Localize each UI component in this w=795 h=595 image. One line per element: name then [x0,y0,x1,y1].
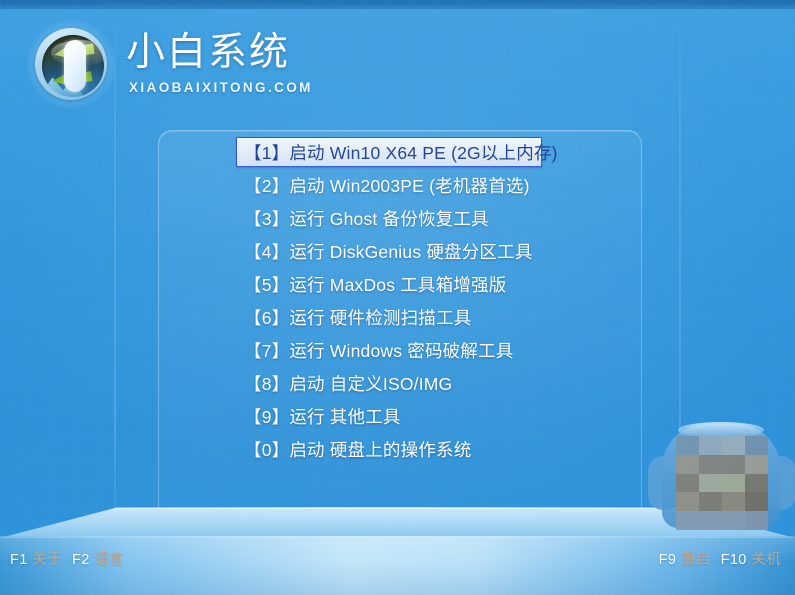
mosaic-tile-9 [699,474,722,493]
menu-item-1[interactable]: 【1】启动 Win10 X64 PE (2G以上内存) [158,136,640,169]
logo-inner-disc [42,35,104,97]
menu-item-5[interactable]: 【5】运行 MaxDos 工具箱增强版 [158,268,640,301]
menu-item-label: 【4】运行 DiskGenius 硬盘分区工具 [244,239,533,264]
mosaic-tile-3 [745,436,768,455]
mosaic-tile-1 [699,436,722,455]
hint-key-f2[interactable]: F2 [72,552,90,568]
boot-menu-list: 【1】启动 Win10 X64 PE (2G以上内存)【2】启动 Win2003… [158,136,640,466]
boot-menu-screen: 小白系统 XIAOBAIXITONG.COM 【1】启动 Win10 X64 P… [0,0,795,595]
menu-item-label: 【7】运行 Windows 密码破解工具 [244,338,513,363]
brand-logo: 小白系统 XIAOBAIXITONG.COM [33,26,283,106]
menu-item-label: 【9】运行 其他工具 [244,404,401,429]
mosaic-tile-17 [699,511,722,530]
footer-hints-right: F9 重启F10 关机 [659,548,781,569]
top-strip [0,0,795,9]
recycle-circle-logo-icon [33,26,109,102]
logo-s-stripe [64,40,86,92]
mosaic-censored-mascot [648,418,795,530]
mosaic-tile-14 [722,492,745,511]
hint-label-f2: 语言 [94,552,124,568]
menu-item-label: 【8】启动 自定义ISO/IMG [244,371,452,396]
mosaic-tile-0 [676,436,699,455]
menu-item-4[interactable]: 【4】运行 DiskGenius 硬盘分区工具 [158,235,640,268]
menu-item-label: 【2】启动 Win2003PE (老机器首选) [244,173,530,198]
menu-item-label: 【1】启动 Win10 X64 PE (2G以上内存) [244,140,558,165]
menu-item-8[interactable]: 【8】启动 自定义ISO/IMG [158,367,640,400]
mosaic-tile-13 [699,492,722,511]
hint-label-f9: 重启 [681,552,711,568]
mosaic-tile-15 [745,492,768,511]
mosaic-tile-18 [722,511,745,530]
mosaic-tile-19 [745,511,768,530]
mosaic-tile-10 [722,474,745,493]
mosaic-blur-overlay [676,436,768,530]
menu-item-label: 【6】运行 硬件检测扫描工具 [244,305,471,330]
menu-item-6[interactable]: 【6】运行 硬件检测扫描工具 [158,301,640,334]
hint-key-f9[interactable]: F9 [659,552,677,568]
mosaic-tile-4 [676,455,699,474]
brand-name-cn: 小白系统 [126,30,290,76]
mosaic-tile-12 [676,492,699,511]
logo-outer-ring [35,28,107,100]
menu-item-label: 【5】运行 MaxDos 工具箱增强版 [244,272,506,297]
menu-item-2[interactable]: 【2】启动 Win2003PE (老机器首选) [158,169,640,202]
mosaic-tile-2 [722,436,745,455]
menu-item-7[interactable]: 【7】运行 Windows 密码破解工具 [158,334,640,367]
mosaic-tile-7 [745,455,768,474]
menu-item-label: 【0】启动 硬盘上的操作系统 [244,437,471,462]
mosaic-tile-6 [722,455,745,474]
hint-key-f1[interactable]: F1 [10,552,28,568]
menu-item-10[interactable]: 【0】启动 硬盘上的操作系统 [158,433,640,466]
menu-item-9[interactable]: 【9】运行 其他工具 [158,400,640,433]
mosaic-tile-8 [676,474,699,493]
mosaic-tile-11 [745,474,768,493]
footer-hints-left: F1 关于F2 语言 [10,548,124,569]
menu-item-label: 【3】运行 Ghost 备份恢复工具 [244,206,489,231]
mosaic-tile-5 [699,455,722,474]
hint-key-f10[interactable]: F10 [721,552,747,568]
brand-name-en: XIAOBAIXITONG.COM [129,80,313,95]
mosaic-tile-16 [676,511,699,530]
menu-item-3[interactable]: 【3】运行 Ghost 备份恢复工具 [158,202,640,235]
hint-label-f1: 关于 [32,552,62,568]
hint-label-f10: 关机 [751,552,781,568]
